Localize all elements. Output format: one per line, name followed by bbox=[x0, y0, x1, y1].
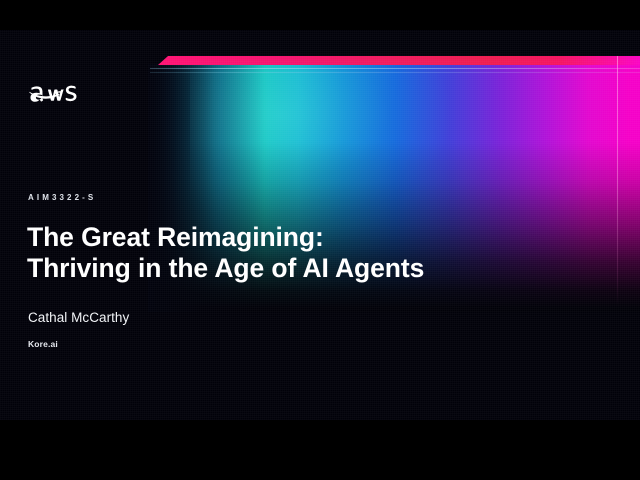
speaker-organization: Kore.ai bbox=[28, 339, 58, 349]
letterbox-bottom bbox=[0, 420, 640, 480]
session-code: AIM3322-S bbox=[28, 193, 96, 202]
letterbox-top bbox=[0, 0, 640, 30]
aws-logo bbox=[28, 82, 86, 116]
page-title-line-1: The Great Reimagining: bbox=[27, 222, 587, 253]
page-title-line-2: Thriving in the Age of AI Agents bbox=[27, 253, 587, 284]
slide-frame: AIM3322-S The Great Reimagining: Thrivin… bbox=[0, 0, 640, 480]
speaker-name: Cathal McCarthy bbox=[28, 310, 129, 325]
slide-content: AIM3322-S The Great Reimagining: Thrivin… bbox=[0, 30, 640, 420]
slide-canvas: AIM3322-S The Great Reimagining: Thrivin… bbox=[0, 30, 640, 420]
page-title: The Great Reimagining: Thriving in the A… bbox=[27, 222, 587, 284]
